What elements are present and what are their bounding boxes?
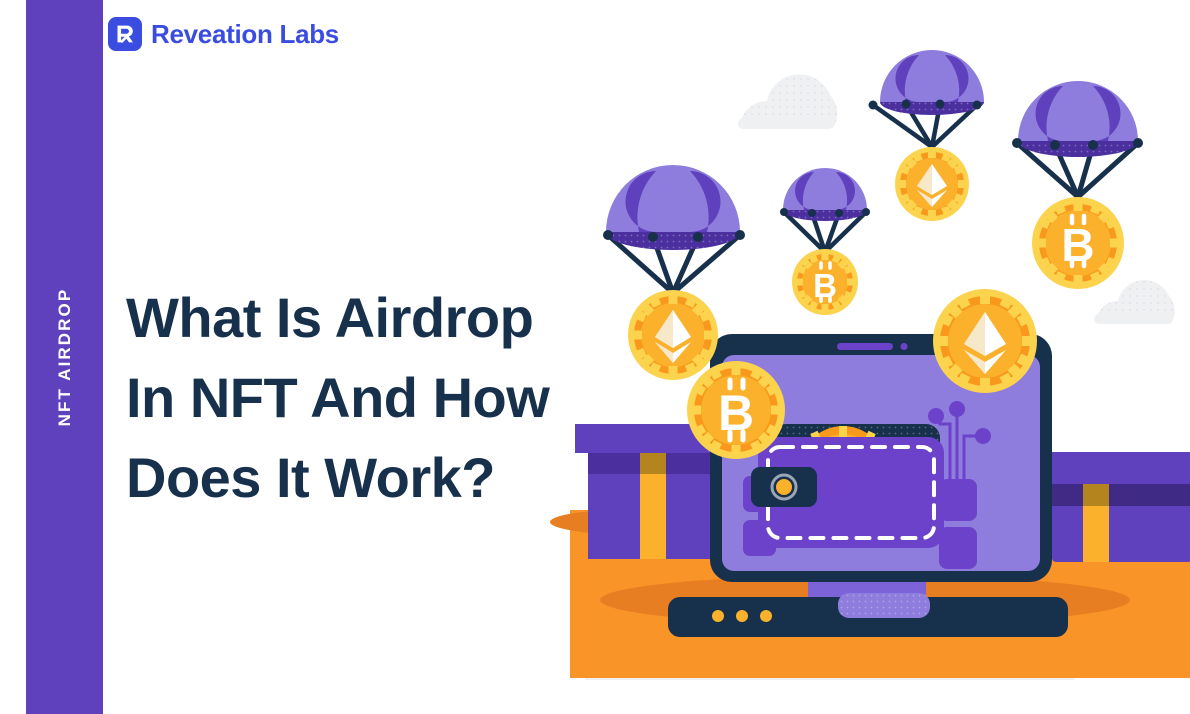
- promo-banner: NFT AIRDROP Reveation Labs What Is Airdr…: [0, 0, 1190, 714]
- brand-name: Reveation Labs: [151, 19, 339, 50]
- cloud-icon-right: [1094, 280, 1175, 324]
- wallet-clasp: [751, 467, 817, 507]
- svg-text:B: B: [1061, 219, 1094, 271]
- coin-bitcoin: B: [792, 249, 858, 315]
- coin-ethereum: [628, 290, 718, 380]
- svg-text:B: B: [813, 267, 837, 304]
- parachute-bitcoin-small-center: B: [780, 168, 870, 315]
- wallet: [751, 437, 944, 548]
- coin-ethereum: [895, 147, 969, 221]
- coin-bitcoin-on-screen: B: [687, 361, 785, 459]
- category-sidebar: NFT AIRDROP: [26, 0, 103, 714]
- laptop-base: [668, 593, 1068, 637]
- svg-text:B: B: [718, 385, 754, 441]
- parachute-bitcoin-right: B: [1012, 81, 1143, 289]
- coin-ethereum-floating-large: [933, 289, 1037, 393]
- brand-logo[interactable]: Reveation Labs: [108, 17, 339, 51]
- laptop-indicator-dots: [712, 610, 772, 622]
- cloud-icon-top-left: [738, 74, 837, 129]
- nft-airdrop-illustration: B: [540, 0, 1190, 714]
- reveation-r-logo-icon: [108, 17, 142, 51]
- coin-bitcoin: B: [1032, 197, 1124, 289]
- category-label: NFT AIRDROP: [55, 288, 75, 427]
- parachute-ethereum-top-center: [869, 50, 985, 221]
- gift-box-right: [1052, 452, 1190, 562]
